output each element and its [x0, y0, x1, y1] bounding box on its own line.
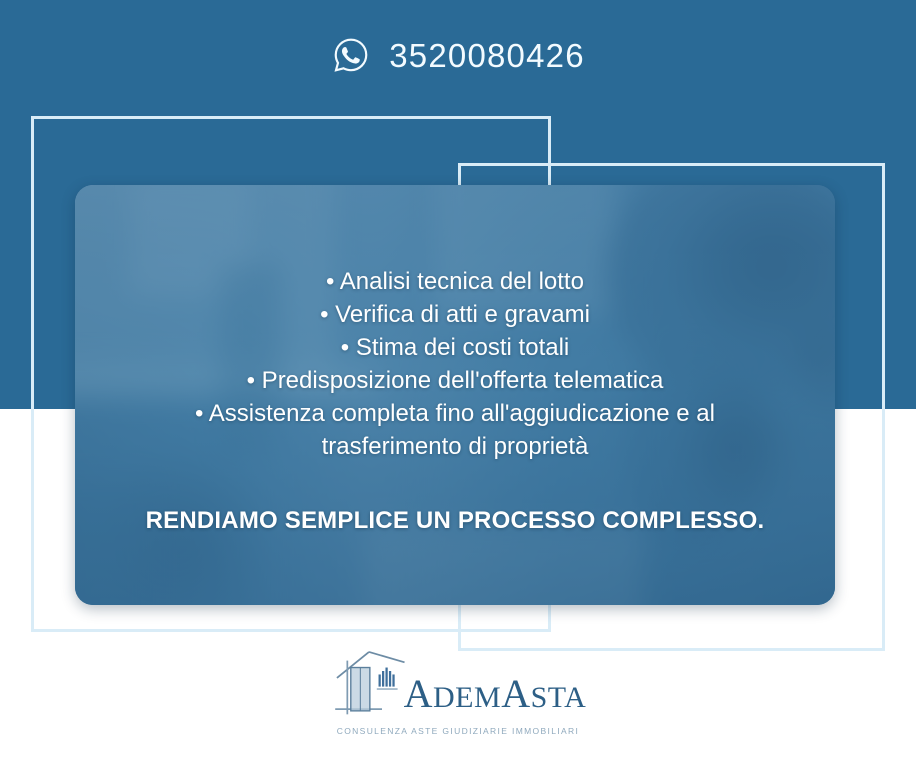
logo-row: ADEMASTA — [330, 648, 587, 720]
services-card: • Analisi tecnica del lotto • Verifica d… — [75, 185, 835, 605]
logo-word-a1: A — [404, 671, 433, 716]
phone-number[interactable]: 3520080426 — [389, 39, 585, 72]
services-bullet-list: • Analisi tecnica del lotto • Verifica d… — [195, 265, 715, 463]
logo-word-dem: DEM — [433, 681, 501, 714]
card-content: • Analisi tecnica del lotto • Verifica d… — [75, 185, 835, 605]
card-tagline: RENDIAMO SEMPLICE UN PROCESSO COMPLESSO. — [146, 507, 765, 535]
brand-logo: ADEMASTA CONSULENZA ASTE GIUDIZIARIE IMM… — [0, 648, 916, 748]
logo-wordmark: ADEMASTA — [404, 674, 587, 718]
whatsapp-icon — [331, 35, 371, 75]
header-contact-bar: 3520080426 — [0, 0, 916, 110]
logo-word-sta: STA — [531, 681, 587, 714]
house-building-icon — [330, 648, 408, 720]
logo-subtitle: CONSULENZA ASTE GIUDIZIARIE IMMOBILIARI — [337, 726, 580, 736]
logo-word-a2: A — [501, 671, 530, 716]
